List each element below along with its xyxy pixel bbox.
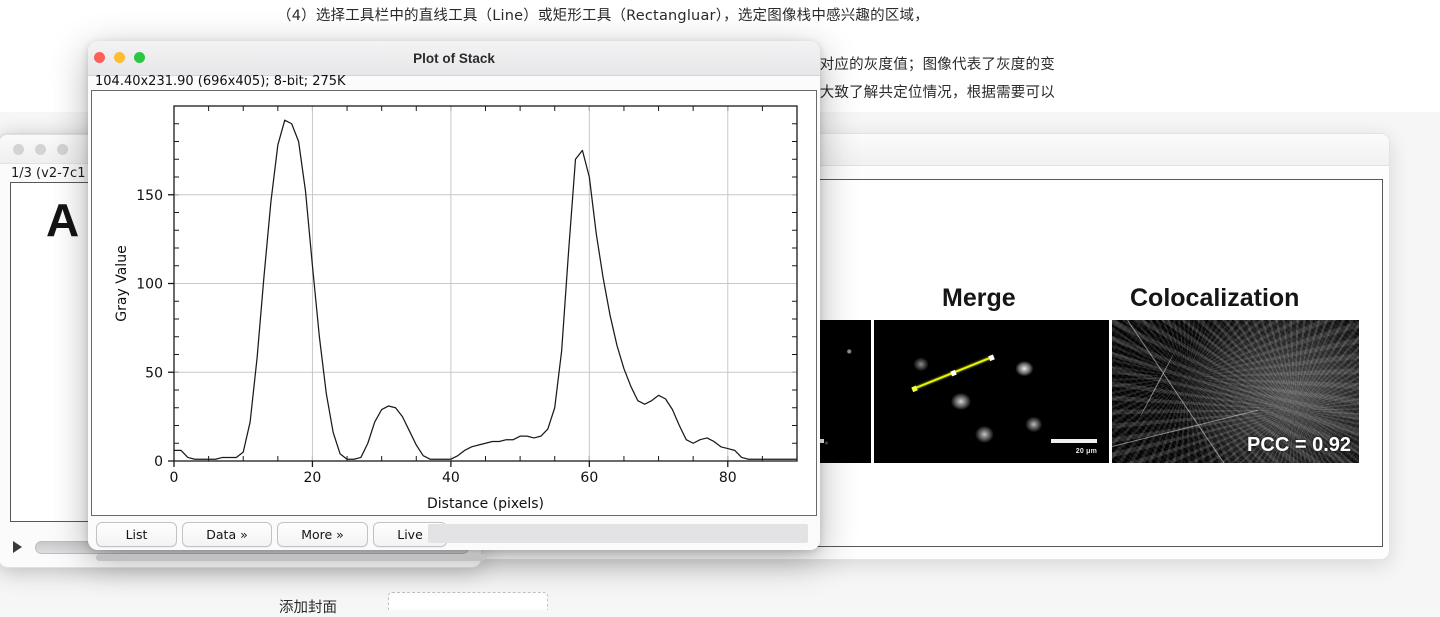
more-button[interactable]: More »	[277, 522, 368, 547]
svg-text:100: 100	[136, 277, 163, 293]
svg-text:40: 40	[442, 470, 460, 486]
document-paragraph-line-1: （4）选择工具栏中的直线工具（Line）或矩形工具（Rectangluar），选…	[277, 4, 929, 25]
pcc-value-label: PCC = 0.92	[1247, 434, 1351, 457]
micrograph-panel-colocalization: PCC = 0.92	[1112, 320, 1359, 463]
close-icon[interactable]	[13, 144, 24, 155]
svg-text:50: 50	[145, 365, 163, 381]
document-bottom-band	[0, 565, 1440, 609]
data-button[interactable]: Data »	[182, 522, 272, 547]
document-paragraph-line-3: 以大致了解共定位情况，根据需要可以	[805, 81, 1055, 102]
background-panel-letter: A	[46, 197, 79, 243]
plot-gridlines	[174, 106, 797, 461]
svg-text:0: 0	[154, 454, 163, 470]
svg-text:80: 80	[719, 470, 737, 486]
minimize-icon[interactable]	[35, 144, 46, 155]
x-axis-tick-labels: 020406080	[170, 470, 737, 486]
y-axis-tick-labels: 050100150	[136, 188, 163, 470]
plot-window-title: Plot of Stack	[88, 51, 820, 66]
maximize-icon[interactable]	[57, 144, 68, 155]
plot-toolbar[interactable]: List Data » More » Live	[88, 517, 820, 550]
svg-text:0: 0	[170, 470, 179, 486]
plot-status-field	[428, 524, 808, 543]
scale-bar-merge	[1051, 439, 1097, 443]
profile-plot-svg: 020406080 050100150 Distance (pixels) Gr…	[92, 91, 818, 515]
panel-title-merge: Merge	[942, 284, 1016, 313]
background-window-horizontal-scrollbar[interactable]	[96, 554, 486, 561]
svg-text:20: 20	[304, 470, 322, 486]
axis-major-ticks	[168, 195, 728, 467]
panel-title-colocalization: Colocalization	[1130, 284, 1299, 313]
document-caption-label: 添加封面	[279, 596, 337, 617]
cover-upload-dropzone[interactable]	[388, 592, 548, 610]
svg-text:60: 60	[580, 470, 598, 486]
y-axis-label: Gray Value	[114, 245, 130, 321]
plot-window-titlebar[interactable]: Plot of Stack	[88, 41, 820, 76]
micrograph-panel-merge[interactable]: 20 μm	[874, 320, 1109, 463]
x-axis-label: Distance (pixels)	[427, 496, 544, 512]
scale-bar-merge-label: 20 μm	[1076, 448, 1097, 455]
document-paragraph-line-2: 点对应的灰度值；图像代表了灰度的变	[805, 53, 1055, 74]
plot-of-stack-window[interactable]: Plot of Stack 104.40x231.90 (696x405); 8…	[88, 41, 820, 550]
svg-text:150: 150	[136, 188, 163, 204]
play-icon[interactable]	[13, 541, 22, 553]
plot-info-line: 104.40x231.90 (696x405); 8-bit; 275K	[95, 74, 346, 89]
profile-curve	[174, 120, 797, 459]
list-button[interactable]: List	[96, 522, 177, 547]
plot-canvas: 020406080 050100150 Distance (pixels) Gr…	[91, 90, 817, 516]
background-window-status-line: 1/3 (v2-7c1	[11, 166, 85, 181]
